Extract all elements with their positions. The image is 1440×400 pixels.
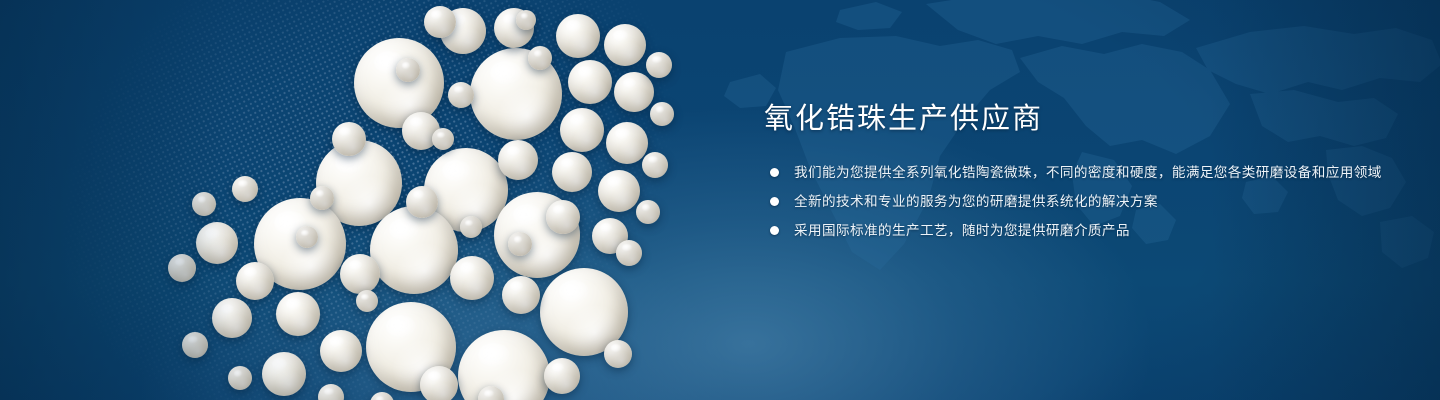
list-item: 我们能为您提供全系列氧化锆陶瓷微珠，不同的密度和硬度，能满足您各类研磨设备和应用…: [764, 162, 1384, 184]
bullet-dot-icon: [770, 226, 779, 235]
list-item: 全新的技术和专业的服务为您的研磨提供系统化的解决方案: [764, 191, 1384, 213]
bullet-dot-icon: [770, 197, 779, 206]
list-item-text: 我们能为您提供全系列氧化锆陶瓷微珠，不同的密度和硬度，能满足您各类研磨设备和应用…: [794, 165, 1382, 180]
banner-copy: 氧化锆珠生产供应商 我们能为您提供全系列氧化锆陶瓷微珠，不同的密度和硬度，能满足…: [764, 104, 1384, 249]
bullet-dot-icon: [770, 168, 779, 177]
list-item-text: 采用国际标准的生产工艺，随时为您提供研磨介质产品: [794, 223, 1130, 238]
list-item: 采用国际标准的生产工艺，随时为您提供研磨介质产品: [764, 220, 1384, 242]
feature-list: 我们能为您提供全系列氧化锆陶瓷微珠，不同的密度和硬度，能满足您各类研磨设备和应用…: [764, 162, 1384, 242]
list-item-text: 全新的技术和专业的服务为您的研磨提供系统化的解决方案: [794, 194, 1158, 209]
product-banner: 氧化锆珠生产供应商 我们能为您提供全系列氧化锆陶瓷微珠，不同的密度和硬度，能满足…: [0, 0, 1440, 400]
banner-headline: 氧化锆珠生产供应商: [764, 104, 1384, 136]
